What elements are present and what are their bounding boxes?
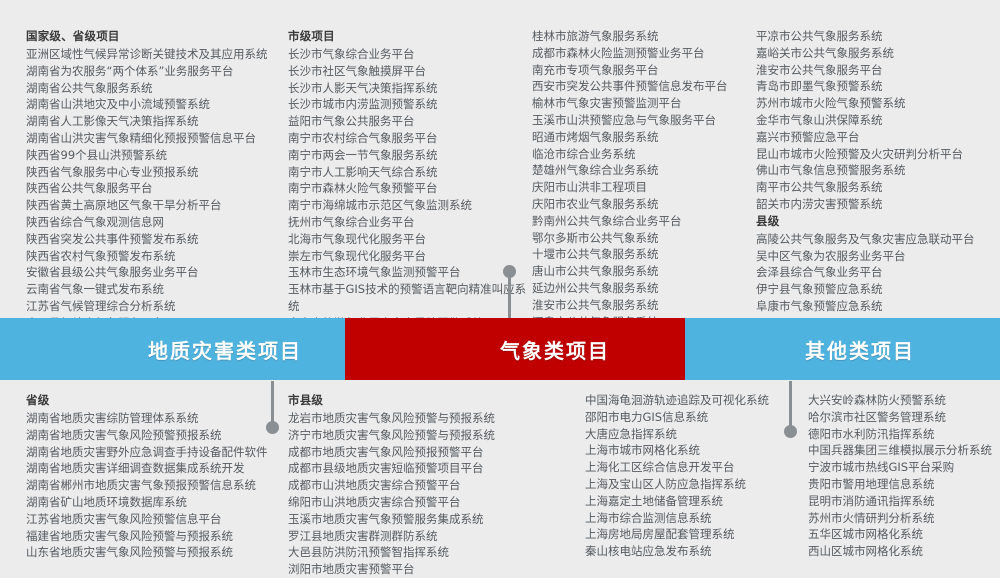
project-item: 高陵公共气象服务及气象灾害应急联动平台 xyxy=(756,231,996,248)
project-item: 湖南省地质灾害气象风险预警预报系统 xyxy=(26,427,276,444)
project-item: 抚州市气象综合业务平台 xyxy=(288,214,532,231)
project-item: 长沙市城市内涝监测预警系统 xyxy=(288,96,532,113)
project-item: 龙岩市地质灾害气象风险预警与预报系统 xyxy=(288,410,568,427)
category-banner: 地质灾害类项目 气象类项目 其他类项目 xyxy=(0,318,1000,380)
project-item: 成都市森林火险监测预警业务平台 xyxy=(532,45,756,62)
project-item: 陕西省突发公共事件预警发布系统 xyxy=(26,231,288,248)
project-item: 南宁市两会一节气象服务系统 xyxy=(288,147,532,164)
project-item: 陕西省公共气象服务平台 xyxy=(26,180,288,197)
project-item: 南充市专项气象服务平台 xyxy=(532,62,756,79)
project-item: 昆明市消防通讯指挥系统 xyxy=(808,493,1000,510)
project-item: 大邑县防洪防汛预警智指挥系统 xyxy=(288,544,568,561)
infographic-canvas: 国家级、省级项目 亚洲区域性气候异常诊断关键技术及其应用系统湖南省为农服务“两个… xyxy=(0,0,1000,564)
bottom-column-city-county: 市县级 龙岩市地质灾害气象风险预警与预报系统济宁市地质灾害气象风险预警与预报系统… xyxy=(288,392,568,578)
project-item: 韶关市内涝灾害预警系统 xyxy=(756,196,996,213)
project-item: 宁波市城市热线GIS平台采购 xyxy=(808,459,1000,476)
project-item: 延边州公共气象服务系统 xyxy=(532,280,756,297)
project-item: 哈尔滨市社区警务管理系统 xyxy=(808,409,1000,426)
project-item: 庆阳市山洪非工程项目 xyxy=(532,179,756,196)
project-item: 庆阳市农业气象服务系统 xyxy=(532,196,756,213)
project-list: 桂林市旅游气象服务系统成都市森林火险监测预警业务平台南充市专项气象服务平台西安市… xyxy=(532,28,756,330)
project-item: 淮安市公共气象服务系统 xyxy=(532,297,756,314)
project-item: 上海市城市网格化系统 xyxy=(585,442,805,459)
project-item: 济宁市地质灾害气象风险预警与预报系统 xyxy=(288,427,568,444)
project-item: 西安市突发公共事件预警信息发布平台 xyxy=(532,78,756,95)
project-item: 陕西省黄土高原地区气象干旱分析平台 xyxy=(26,197,288,214)
project-item: 鄂尔多斯市公共气象系统 xyxy=(532,230,756,247)
project-list: 大兴安岭森林防火预警系统哈尔滨市社区警务管理系统德阳市水利防汛指挥系统中国兵器集… xyxy=(808,392,1000,560)
project-item: 南宁市森林火险气象预警平台 xyxy=(288,180,532,197)
project-item: 陕西省99个县山洪预警系统 xyxy=(26,147,288,164)
project-item: 湖南省为农服务“两个体系”业务服务平台 xyxy=(26,63,288,80)
bottom-column-other-a: 中国海龟洄游轨迹追踪及可视化系统邵阳市电力GIS信息系统大唐应急指挥系统上海市城… xyxy=(585,392,805,560)
project-item: 嘉峪关市公共气象服务系统 xyxy=(756,45,996,62)
project-item: 湖南省山洪地灾及中小流域预警系统 xyxy=(26,96,288,113)
project-item: 青岛市即墨气象预警系统 xyxy=(756,78,996,95)
project-item: 亚洲区域性气候异常诊断关键技术及其应用系统 xyxy=(26,46,288,63)
project-item: 中国海龟洄游轨迹追踪及可视化系统 xyxy=(585,392,805,409)
project-item: 伊宁县气象预警应急系统 xyxy=(756,281,996,298)
project-item: 安徽省县级公共气象服务业务平台 xyxy=(26,264,288,281)
project-item: 昭通市烤烟气象服务系统 xyxy=(532,129,756,146)
project-item: 嘉兴市预警应急平台 xyxy=(756,129,996,146)
project-item: 陕西省气象服务中心专业预报系统 xyxy=(26,164,288,181)
project-item: 大兴安岭森林防火预警系统 xyxy=(808,392,1000,409)
project-item: 福建省地质灾害气象风险预警与预报系统 xyxy=(26,528,276,545)
project-item: 江苏省地质灾害气象风险预警信息平台 xyxy=(26,511,276,528)
project-item: 楚雄州气象综合业务系统 xyxy=(532,162,756,179)
project-item: 十堰市公共气象服务系统 xyxy=(532,246,756,263)
project-list: 亚洲区域性气候异常诊断关键技术及其应用系统湖南省为农服务“两个体系”业务服务平台… xyxy=(26,46,288,332)
project-item: 淮安市公共气象服务平台 xyxy=(756,62,996,79)
project-item: 长沙市气象综合业务平台 xyxy=(288,46,532,63)
project-item: 德阳市水利防汛指挥系统 xyxy=(808,426,1000,443)
project-item: 桂林市旅游气象服务系统 xyxy=(532,28,756,45)
project-item: 湖南省人工影像天气决策指挥系统 xyxy=(26,113,288,130)
project-item: 成都市县级地质灾害短临预警项目平台 xyxy=(288,460,568,477)
project-item: 长沙市人影天气决策指挥系统 xyxy=(288,80,532,97)
project-item: 玉林市基于GIS技术的预警语言靶向精准叫应系统 xyxy=(288,281,532,315)
project-list: 中国海龟洄游轨迹追踪及可视化系统邵阳市电力GIS信息系统大唐应急指挥系统上海市城… xyxy=(585,392,805,560)
top-column-national-provincial: 国家级、省级项目 亚洲区域性气候异常诊断关键技术及其应用系统湖南省为农服务“两个… xyxy=(26,28,288,332)
project-item: 苏州市城市火险气象预警系统 xyxy=(756,95,996,112)
project-item: 云南省气象一键式发布系统 xyxy=(26,281,288,298)
column-heading: 市级项目 xyxy=(288,28,532,45)
project-item: 苏州市火情研判分析系统 xyxy=(808,510,1000,527)
project-item: 湖南省地质灾害野外应急调查手持设备配件软件 xyxy=(26,444,276,461)
project-item: 绵阳市山洪地质灾害综合预警平台 xyxy=(288,494,568,511)
project-item: 玉林市生态环境气象监测预警平台 xyxy=(288,264,532,281)
project-item: 长沙市社区气象触摸屏平台 xyxy=(288,63,532,80)
column-heading-county: 县级 xyxy=(756,213,996,230)
project-item: 成都市山洪地质灾害综合预警平台 xyxy=(288,477,568,494)
project-item: 上海房地局房屋配套管理系统 xyxy=(585,526,805,543)
project-item: 江苏省气候管理综合分析系统 xyxy=(26,298,288,315)
project-item: 玉溪市山洪预警应急与气象服务平台 xyxy=(532,112,756,129)
project-item: 益阳市气象公共服务平台 xyxy=(288,113,532,130)
project-item: 秦山核电站应急发布系统 xyxy=(585,543,805,560)
project-item: 南宁市农村综合气象服务平台 xyxy=(288,130,532,147)
project-item: 玉溪市地质灾害气象预警服务集成系统 xyxy=(288,511,568,528)
project-item: 阜康市气象预警应急系统 xyxy=(756,298,996,315)
project-item: 邵阳市电力GIS信息系统 xyxy=(585,409,805,426)
project-item: 罗江县地质灾害群测群防系统 xyxy=(288,528,568,545)
project-list: 平凉市公共气象服务系统嘉峪关市公共气象服务系统淮安市公共气象服务平台青岛市即墨气… xyxy=(756,28,996,213)
project-item: 唐山市公共气象服务系统 xyxy=(532,263,756,280)
project-item: 山东省地质灾害气象风险预警与预报系统 xyxy=(26,544,276,561)
project-item: 大唐应急指挥系统 xyxy=(585,426,805,443)
top-column-city-continued: 桂林市旅游气象服务系统成都市森林火险监测预警业务平台南充市专项气象服务平台西安市… xyxy=(532,28,756,330)
column-heading: 市县级 xyxy=(288,392,568,409)
project-item: 中国兵器集团三维模拟展示分析系统 xyxy=(808,442,1000,459)
project-item: 陕西省农村气象预警发布系统 xyxy=(26,248,288,265)
project-item: 上海市综合监测信息系统 xyxy=(585,510,805,527)
project-item: 昆山市城市火险预警及火灾研判分析平台 xyxy=(756,146,996,163)
column-heading: 国家级、省级项目 xyxy=(26,28,288,45)
project-item: 贵阳市警用地理信息系统 xyxy=(808,476,1000,493)
project-item: 会泽县综合气象业务平台 xyxy=(756,264,996,281)
project-list: 长沙市气象综合业务平台长沙市社区气象触摸屏平台长沙市人影天气决策指挥系统长沙市城… xyxy=(288,46,532,332)
project-item: 上海化工区综合信息开发平台 xyxy=(585,459,805,476)
project-item: 崇左市气象现代化服务平台 xyxy=(288,248,532,265)
project-item: 湖南省山洪灾害气象精细化预报预警信息平台 xyxy=(26,130,288,147)
project-item: 吴中区气象为农服务业务平台 xyxy=(756,248,996,265)
top-column-city: 市级项目 长沙市气象综合业务平台长沙市社区气象触摸屏平台长沙市人影天气决策指挥系… xyxy=(288,28,532,332)
column-heading: 省级 xyxy=(26,392,276,409)
project-item: 临沧市综合业务系统 xyxy=(532,146,756,163)
project-item: 湖南省矿山地质环境数据库系统 xyxy=(26,494,276,511)
project-item: 湖南省地质灾害综防管理体系系统 xyxy=(26,410,276,427)
project-item: 陕西省综合气象观测信息网 xyxy=(26,214,288,231)
project-item: 上海及宝山区人防应急指挥系统 xyxy=(585,476,805,493)
project-item: 平凉市公共气象服务系统 xyxy=(756,28,996,45)
project-item: 湖南省郴州市地质灾害气象预报预警信息系统 xyxy=(26,477,276,494)
project-item: 湖南省公共气象服务系统 xyxy=(26,80,288,97)
project-list: 湖南省地质灾害综防管理体系系统湖南省地质灾害气象风险预警预报系统湖南省地质灾害野… xyxy=(26,410,276,561)
project-item: 湖南省地质灾害详细调查数据集成系统开发 xyxy=(26,460,276,477)
bottom-column-other-b: 大兴安岭森林防火预警系统哈尔滨市社区警务管理系统德阳市水利防汛指挥系统中国兵器集… xyxy=(808,392,1000,560)
project-item: 五华区城市网格化系统 xyxy=(808,526,1000,543)
project-item: 上海嘉定土地储备管理系统 xyxy=(585,493,805,510)
project-item: 金华市气象山洪保障系统 xyxy=(756,112,996,129)
connector-dot-top-left xyxy=(503,265,516,278)
connector-line-top-left xyxy=(508,278,511,320)
project-item: 榆林市气象灾害预警监测平台 xyxy=(532,95,756,112)
project-item: 黔南州公共气象综合业务平台 xyxy=(532,213,756,230)
project-item: 南宁市人工影响天气综合系统 xyxy=(288,164,532,181)
top-column-city-county: 平凉市公共气象服务系统嘉峪关市公共气象服务系统淮安市公共气象服务平台青岛市即墨气… xyxy=(756,28,996,315)
project-item: 北海市气象现代化服务平台 xyxy=(288,231,532,248)
project-item: 南平市公共气象服务系统 xyxy=(756,179,996,196)
project-item: 佛山市气象信息预警服务系统 xyxy=(756,162,996,179)
project-list-county: 高陵公共气象服务及气象灾害应急联动平台吴中区气象为农服务业务平台会泽县综合气象业… xyxy=(756,231,996,315)
bottom-column-provincial: 省级 湖南省地质灾害综防管理体系系统湖南省地质灾害气象风险预警预报系统湖南省地质… xyxy=(26,392,276,561)
project-item: 西山区城市网格化系统 xyxy=(808,543,1000,560)
project-item: 南宁市海绵城市示范区气象监测系统 xyxy=(288,197,532,214)
project-item: 成都市地质灾害气象风险预报预警平台 xyxy=(288,444,568,461)
project-list: 龙岩市地质灾害气象风险预警与预报系统济宁市地质灾害气象风险预警与预报系统成都市地… xyxy=(288,410,568,578)
